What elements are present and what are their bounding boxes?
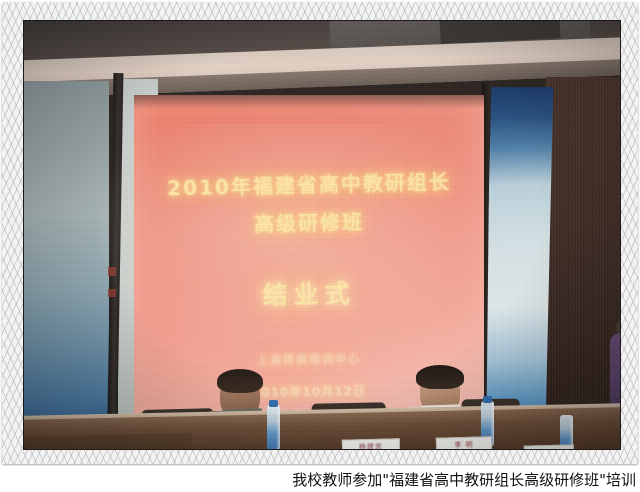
water-bottle-cap [483, 396, 492, 403]
left-wall-panel [24, 81, 109, 449]
slide-heading: 结业式 [134, 272, 485, 314]
name-card: 王 强 [524, 444, 574, 449]
caption-bar: 我校教师参加"福建省高中教研组长高级研修班"培训 [0, 466, 640, 492]
screen-top-shadow [134, 95, 484, 109]
water-bottle-cap [269, 400, 278, 407]
name-card: 李 明 [436, 436, 492, 449]
name-card-text: 杨建忠 [343, 439, 399, 449]
photograph: 2010年福建省高中教研组长 高级研修班 结业式 上海师资培训中心 2010年1… [23, 20, 621, 450]
caption-text: 我校教师参加"福建省高中教研组长高级研修班"培训 [292, 469, 640, 490]
photo-frame: 2010年福建省高中教研组长 高级研修班 结业式 上海师资培训中心 2010年1… [2, 2, 638, 464]
screen-hotspot [99, 124, 519, 379]
name-card-text: 李 明 [437, 437, 491, 449]
name-card: 杨建忠 [342, 438, 400, 449]
seated-person-right-hair [416, 365, 464, 389]
name-card-text: 王 强 [525, 445, 573, 449]
photo-page: 2010年福建省高中教研组长 高级研修班 结业式 上海师资培训中心 2010年1… [0, 0, 640, 492]
photograph-content: 2010年福建省高中教研组长 高级研修班 结业式 上海师资培训中心 2010年1… [24, 21, 620, 449]
back-wall-right [546, 77, 620, 449]
seated-person-left-hair [217, 369, 263, 393]
wall-grain [546, 77, 620, 449]
water-bottle [267, 405, 280, 449]
